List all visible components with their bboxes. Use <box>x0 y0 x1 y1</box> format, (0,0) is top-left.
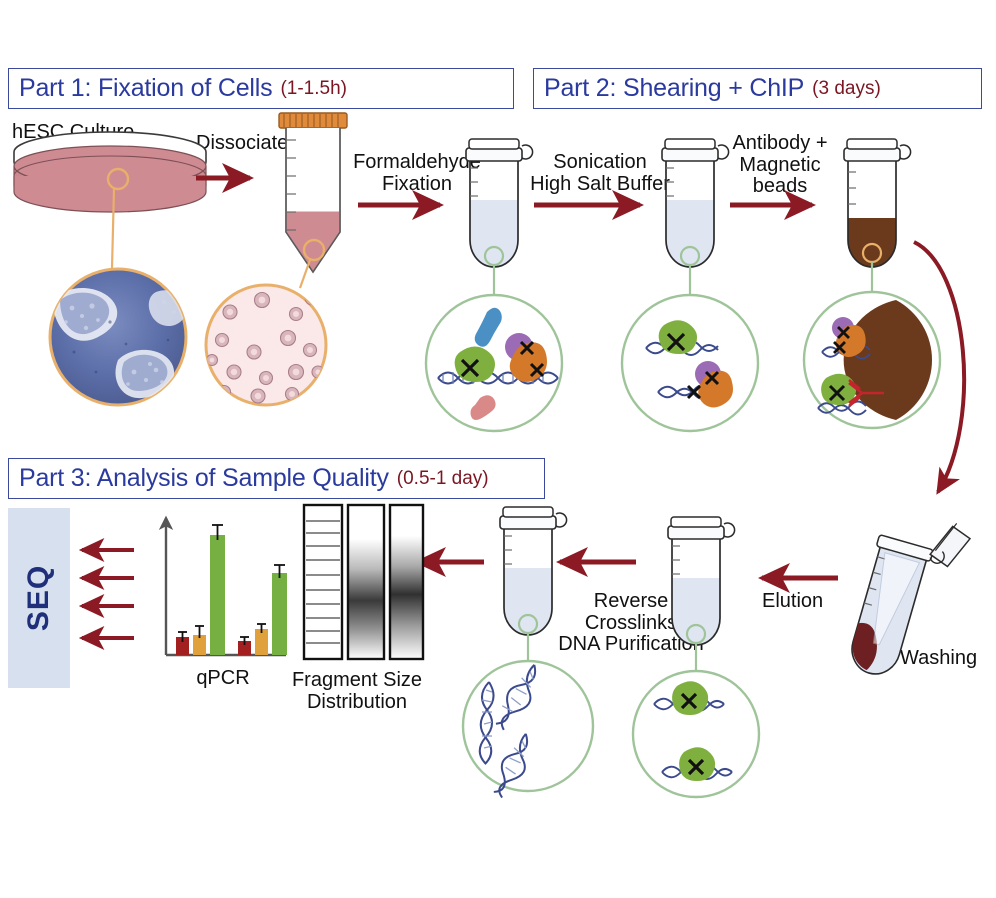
seq-arrows <box>82 550 134 638</box>
gel-lane-ladder <box>304 505 342 659</box>
callout-dissociated-cells <box>206 240 326 405</box>
callout-purified-dna <box>463 615 593 800</box>
callout-crosslinked-chromatin <box>426 247 562 431</box>
callout-sheared-chromatin <box>622 247 758 431</box>
eppendorf-tube-immunoprecipitation <box>844 139 911 267</box>
figure-canvas: Part 1: Fixation of Cells (1-1.5h) Part … <box>0 0 996 898</box>
washing-tube-with-magnet <box>840 504 973 696</box>
gel-lane-sample-1 <box>348 505 384 659</box>
tube-open-lid <box>928 519 973 571</box>
diagram-artwork <box>0 0 996 898</box>
qpcr-chart <box>166 518 287 655</box>
bar-antibody-g2 <box>272 573 287 655</box>
callout-eluted-complexes <box>633 625 759 797</box>
callout-immunoprecipitation <box>804 244 940 428</box>
gel-lane-sample-2 <box>390 505 423 659</box>
conical-tube <box>279 113 347 272</box>
bar-antibody-g1 <box>210 535 225 655</box>
gel-fragment-size <box>304 505 423 659</box>
